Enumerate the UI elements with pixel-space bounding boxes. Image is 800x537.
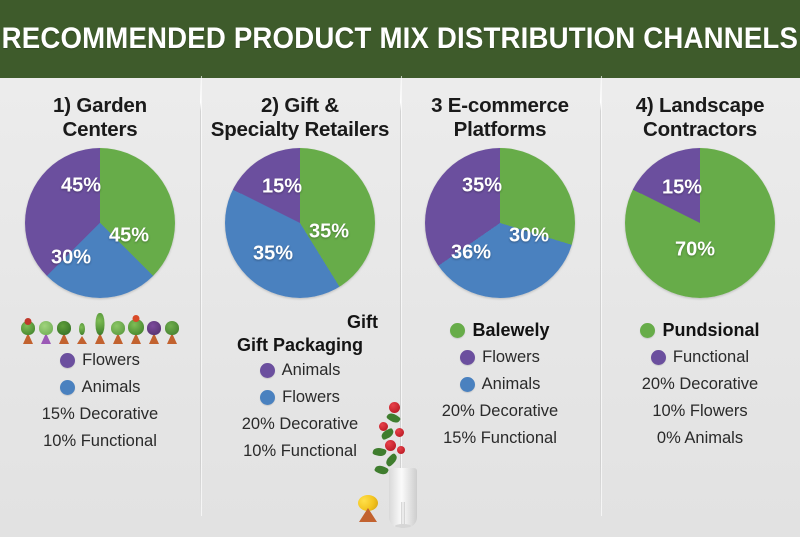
pie-chart-ecommerce: 30% 36% 35% xyxy=(425,148,575,298)
legend-item-label: Flowers xyxy=(482,345,540,370)
channel-column-landscape-contractors: 4) Landscape Contractors 70% 15% Pundsio… xyxy=(600,78,800,537)
legend-item[interactable]: Animals xyxy=(60,375,141,400)
column-title: 4) Landscape Contractors xyxy=(632,94,769,142)
pie-slice-label-blue: 35% xyxy=(253,243,293,266)
pie-chart-gift-specialty: 35% 35% 15% xyxy=(225,148,375,298)
potted-plant xyxy=(110,306,127,344)
pie-graphic xyxy=(225,148,375,298)
potted-plant xyxy=(38,306,55,344)
pie-graphic xyxy=(25,148,175,298)
legend-item-label: Functional xyxy=(673,345,749,370)
legend-heading-gift-packaging: Gift Packaging xyxy=(237,335,363,356)
potted-plant xyxy=(164,306,181,344)
channel-column-garden-centers: 1) Garden Centers 45% 30% 45% Flowers xyxy=(0,78,200,537)
pie-graphic xyxy=(625,148,775,298)
legend-gift-specialty: Gift Gift Packaging Animals Flowers 20% … xyxy=(200,312,400,464)
legend-item-label: 20% Decorative xyxy=(242,412,358,437)
legend-item-label: 15% Functional xyxy=(443,426,557,451)
column-title-line2: Platforms xyxy=(454,118,547,141)
legend-ecommerce: Balewely Flowers Animals 20% Decorative … xyxy=(400,318,600,451)
legend-item-label: Flowers xyxy=(82,348,140,373)
legend-item-label: 15% Decorative xyxy=(42,402,158,427)
legend-item-label: 20% Decorative xyxy=(642,372,758,397)
legend-item-label: 10% Functional xyxy=(243,439,357,464)
legend-item[interactable]: Functional xyxy=(651,345,749,370)
column-title-line1: 1) Garden xyxy=(53,94,147,117)
legend-item[interactable]: Balewely xyxy=(450,318,549,343)
legend-dot-icon xyxy=(460,377,475,392)
legend-dot-icon xyxy=(260,363,275,378)
legend-item-label: Pundsional xyxy=(662,318,759,343)
legend-item[interactable]: Animals xyxy=(460,372,541,397)
pie-slice-label-blue: 30% xyxy=(51,247,91,270)
legend-item-label: 10% Functional xyxy=(43,429,157,454)
potted-plants-row-image xyxy=(15,304,185,344)
legend-item-label: Animals xyxy=(482,372,541,397)
legend-item-label: 20% Decorative xyxy=(442,399,558,424)
column-title-line1: 3 E-commerce xyxy=(431,94,569,117)
legend-item-label: 0% Animals xyxy=(657,426,743,451)
potted-plant xyxy=(74,306,91,344)
legend-item: 20% Decorative xyxy=(642,372,758,397)
page-header: RECOMMENDED PRODUCT MIX DISTRIBUTION CHA… xyxy=(0,0,800,78)
legend-item-label: Animals xyxy=(282,358,341,383)
column-title: 3 E-commerce Platforms xyxy=(427,94,573,142)
legend-dot-icon xyxy=(260,390,275,405)
legend-dot-icon xyxy=(640,323,655,338)
column-title-line1: 4) Landscape xyxy=(636,94,765,117)
legend-item: 0% Animals xyxy=(657,426,743,451)
pie-slice-label-purple: 15% xyxy=(262,176,302,199)
pie-slice-label-green: 35% xyxy=(309,221,349,244)
legend-item: 15% Decorative xyxy=(42,402,158,427)
pie-chart-landscape: 70% 15% xyxy=(625,148,775,298)
channel-columns: 1) Garden Centers 45% 30% 45% Flowers xyxy=(0,78,800,537)
legend-item[interactable]: Flowers xyxy=(460,345,540,370)
legend-item-label: 10% Flowers xyxy=(652,399,747,424)
legend-item: 10% Flowers xyxy=(652,399,747,424)
legend-item[interactable]: Flowers xyxy=(260,385,340,410)
legend-heading-gift: Gift xyxy=(347,312,378,333)
legend-dot-icon xyxy=(60,380,75,395)
pie-slice-label-green: 45% xyxy=(109,225,149,248)
legend-item-label: Balewely xyxy=(472,318,549,343)
pie-slice-label-green: 70% xyxy=(675,239,715,262)
channel-column-ecommerce-platforms: 3 E-commerce Platforms 30% 36% 35% Balew… xyxy=(400,78,600,537)
legend-dot-icon xyxy=(460,350,475,365)
legend-item: 20% Decorative xyxy=(242,412,358,437)
legend-item-label: Animals xyxy=(82,375,141,400)
legend-item: 10% Functional xyxy=(243,439,357,464)
legend-item: 15% Functional xyxy=(443,426,557,451)
legend-landscape: Pundsional Functional 20% Decorative 10%… xyxy=(600,318,800,451)
legend-item: 20% Decorative xyxy=(442,399,558,424)
column-title: 1) Garden Centers xyxy=(49,94,151,142)
potted-plant xyxy=(92,306,109,344)
legend-dot-icon xyxy=(60,353,75,368)
column-title-line2: Centers xyxy=(63,118,138,141)
column-title: 2) Gift & Specialty Retailers xyxy=(207,94,394,142)
legend-dot-icon xyxy=(450,323,465,338)
potted-plant xyxy=(20,306,37,344)
pie-slice-label-purple: 15% xyxy=(662,177,702,200)
legend-item-label: Flowers xyxy=(282,385,340,410)
legend-garden-centers: Flowers Animals 15% Decorative 10% Funct… xyxy=(0,348,200,454)
potted-plant xyxy=(128,306,145,344)
potted-plant xyxy=(56,306,73,344)
potted-plant xyxy=(146,306,163,344)
column-title-line2: Contractors xyxy=(643,118,757,141)
channel-column-gift-specialty-retailers: 2) Gift & Specialty Retailers 35% 35% 15… xyxy=(200,78,400,537)
pie-chart-garden-centers: 45% 30% 45% xyxy=(25,148,175,298)
legend-item[interactable]: Animals xyxy=(260,358,341,383)
legend-item: 10% Functional xyxy=(43,429,157,454)
pie-graphic xyxy=(425,148,575,298)
page-title: RECOMMENDED PRODUCT MIX DISTRIBUTION CHA… xyxy=(2,22,798,56)
column-title-line1: 2) Gift & xyxy=(261,94,339,117)
column-title-line2: Specialty Retailers xyxy=(211,118,390,141)
pie-slice-label-purple: 35% xyxy=(462,175,502,198)
pie-slice-label-green: 30% xyxy=(509,225,549,248)
legend-item[interactable]: Flowers xyxy=(60,348,140,373)
legend-item[interactable]: Pundsional xyxy=(640,318,759,343)
legend-dot-icon xyxy=(651,350,666,365)
pie-slice-label-purple: 45% xyxy=(61,175,101,198)
pie-slice-label-blue: 36% xyxy=(451,242,491,265)
